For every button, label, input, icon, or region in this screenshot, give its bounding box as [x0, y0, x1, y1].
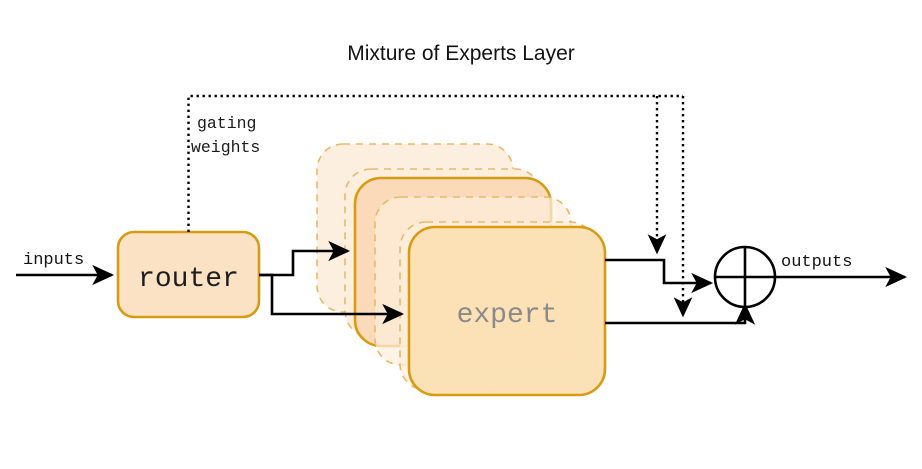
expert-stack: expert — [317, 144, 605, 395]
gating-weights-label-line2: weights — [191, 138, 260, 157]
expert-front-to-sum-line — [605, 305, 745, 323]
gating-weights-label-line1: gating — [197, 114, 256, 133]
moe-diagram-canvas: Mixture of Experts Layer expert router i… — [0, 0, 922, 469]
expert-box-label: expert — [457, 300, 558, 331]
sum-node[interactable] — [715, 247, 775, 307]
expert-top-to-sum-line — [605, 260, 711, 283]
diagram-title: Mixture of Experts Layer — [347, 42, 575, 65]
edge-inputs-to-router: inputs — [16, 251, 112, 275]
router-box-label: router — [138, 264, 239, 295]
inputs-label: inputs — [23, 251, 84, 270]
moe-diagram: Mixture of Experts Layer expert router i… — [0, 0, 922, 469]
router-node[interactable]: router — [118, 232, 259, 317]
edge-sum-to-outputs: outputs — [775, 253, 905, 277]
outputs-label: outputs — [781, 253, 852, 272]
